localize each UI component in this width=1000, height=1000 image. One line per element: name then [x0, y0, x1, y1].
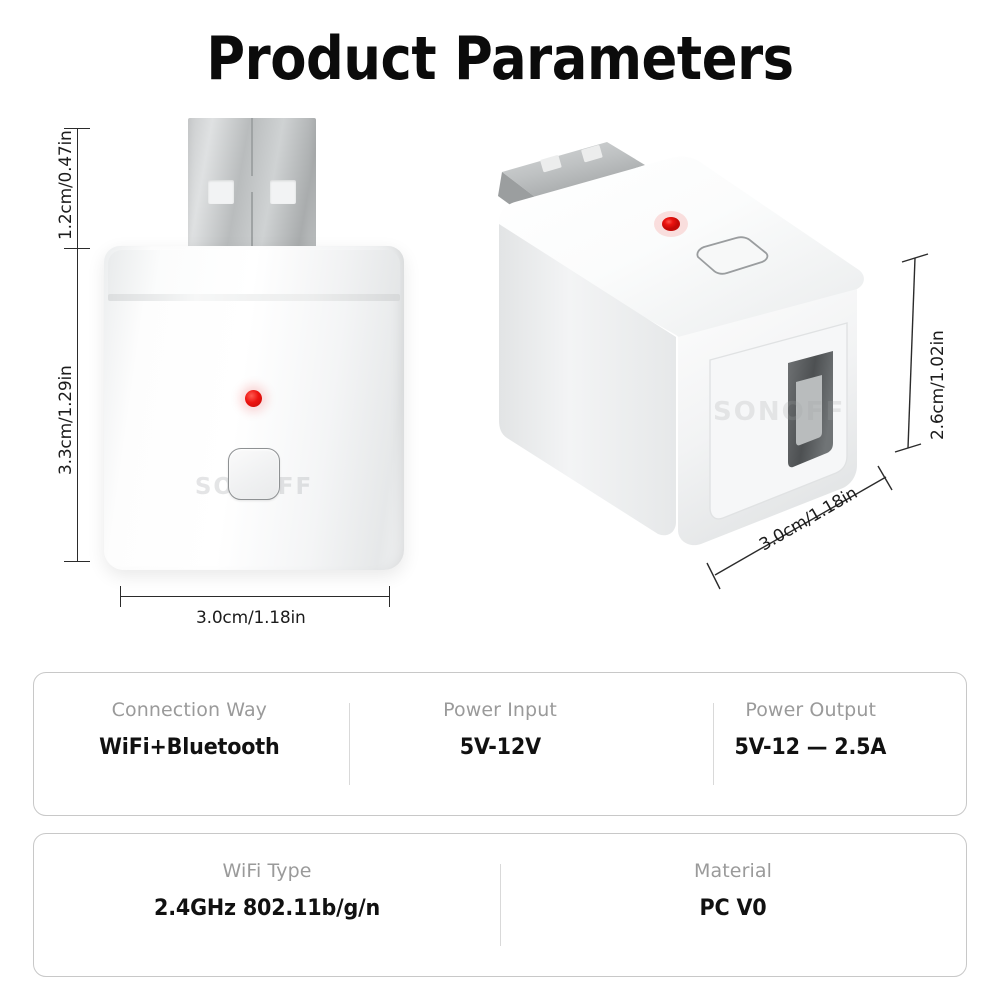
spec-value: 5V-12V — [354, 735, 646, 760]
status-led-indicator — [245, 390, 262, 407]
spec-value: 2.4GHz 802.11b/g/n — [48, 896, 486, 921]
pairing-button[interactable] — [228, 448, 280, 500]
adapter-top-cap — [108, 250, 400, 298]
left-horizontal-dimension-line — [120, 596, 390, 597]
left-dim-tick-top — [64, 128, 90, 129]
page-title: Product Parameters — [60, 24, 940, 94]
left-product-image: SONOFF — [104, 118, 404, 570]
spec-label: WiFi Type — [34, 860, 500, 882]
spec-card-row-1: Connection Way WiFi+Bluetooth Power Inpu… — [33, 672, 967, 816]
spec-cell-material: Material PC V0 — [500, 860, 966, 921]
spec-cell-power-output: Power Output 5V-12 — 2.5A — [655, 699, 966, 760]
spec-label: Material — [500, 860, 966, 882]
spec-cell-wifi-type: WiFi Type 2.4GHz 802.11b/g/n — [34, 860, 500, 921]
left-body-height-label: 3.3cm/1.29in — [56, 365, 76, 475]
left-vertical-dimension-line — [77, 128, 78, 562]
status-led-glow — [654, 211, 688, 237]
right-dim-tick-far — [878, 466, 892, 490]
left-plug-height-label: 1.2cm/0.47in — [56, 130, 76, 240]
spec-label: Connection Way — [34, 699, 345, 721]
left-dim-tick-left — [120, 586, 121, 607]
spec-label: Power Output — [655, 699, 966, 721]
spec-value: PC V0 — [514, 896, 952, 921]
adapter-cap-seam — [108, 294, 400, 301]
left-body-width-label: 3.0cm/1.18in — [196, 608, 306, 628]
left-dim-tick-bottom — [64, 561, 90, 562]
product-parameters-page: Product Parameters 1.2cm/0.47in 3.3cm/1.… — [0, 0, 1000, 1000]
left-dim-tick-right — [389, 586, 390, 607]
spec-label: Power Input — [345, 699, 656, 721]
spec-card-row-2: WiFi Type 2.4GHz 802.11b/g/n Material PC… — [33, 833, 967, 977]
left-dim-tick-mid — [64, 248, 90, 249]
right-vertical-dimension-line — [908, 258, 915, 448]
spec-cell-power-input: Power Input 5V-12V — [345, 699, 656, 760]
right-dim-tick-near — [707, 563, 720, 589]
right-body-height-label: 2.6cm/1.02in — [928, 330, 948, 440]
spec-value: 5V-12 — 2.5A — [665, 735, 957, 760]
spec-value: WiFi+Bluetooth — [43, 735, 335, 760]
spec-cell-connection-way: Connection Way WiFi+Bluetooth — [34, 699, 345, 760]
